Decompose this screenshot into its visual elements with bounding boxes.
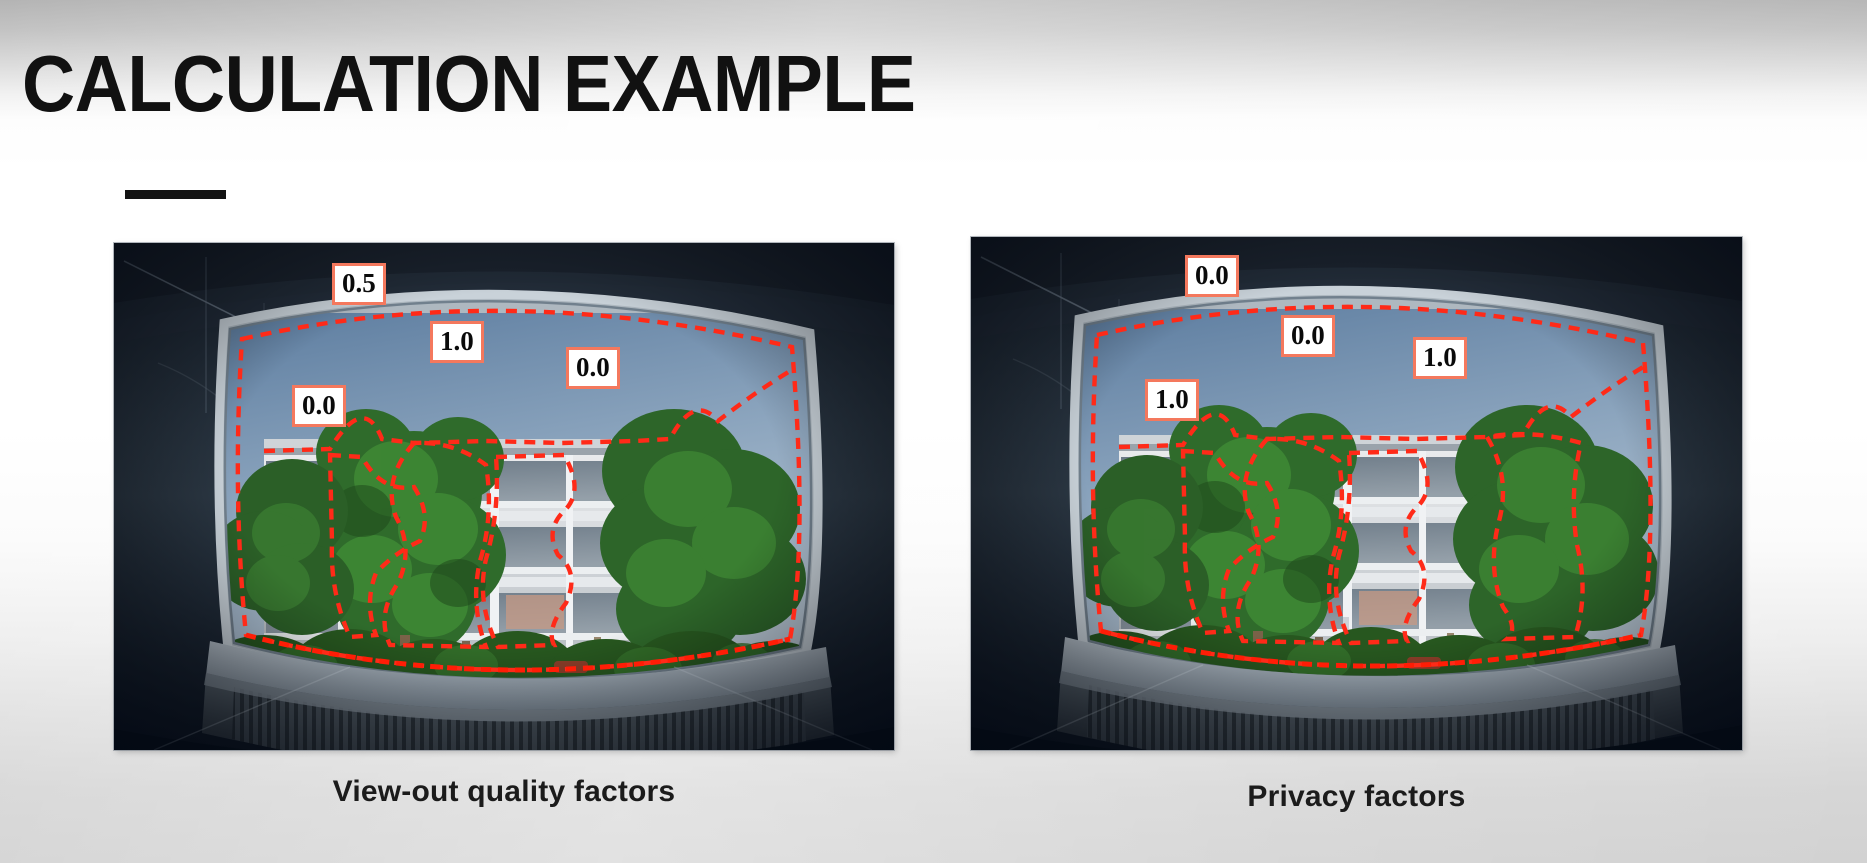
title-divider-rule bbox=[125, 190, 226, 199]
slide-canvas: CALCULATION EXAMPLE bbox=[0, 0, 1867, 863]
photo-scene-right-svg bbox=[971, 237, 1742, 750]
figure-privacy[interactable]: 0.0 0.0 1.0 1.0 bbox=[971, 237, 1742, 750]
label-tree-region-factor: 1.0 bbox=[430, 321, 484, 363]
photo-fisheye-window-left: 0.5 1.0 0.0 0.0 bbox=[114, 243, 894, 750]
photo-fisheye-window-right: 0.0 0.0 1.0 1.0 bbox=[971, 237, 1742, 750]
label-sky-region-factor: 0.0 bbox=[1185, 255, 1239, 297]
caption-view-out-quality: View-out quality factors bbox=[114, 775, 894, 809]
photo-scene-left-svg bbox=[114, 243, 894, 750]
label-building-left-region-factor: 1.0 bbox=[1145, 379, 1199, 421]
label-building-right-region-factor: 0.0 bbox=[566, 347, 620, 389]
label-sky-region-factor: 0.5 bbox=[332, 263, 386, 305]
caption-privacy: Privacy factors bbox=[971, 780, 1742, 814]
label-building-left-region-factor: 0.0 bbox=[292, 385, 346, 427]
label-tree-region-factor: 0.0 bbox=[1281, 315, 1335, 357]
label-building-right-region-factor: 1.0 bbox=[1413, 337, 1467, 379]
page-title: CALCULATION EXAMPLE bbox=[22, 44, 916, 124]
figure-view-out-quality[interactable]: 0.5 1.0 0.0 0.0 bbox=[114, 243, 894, 750]
